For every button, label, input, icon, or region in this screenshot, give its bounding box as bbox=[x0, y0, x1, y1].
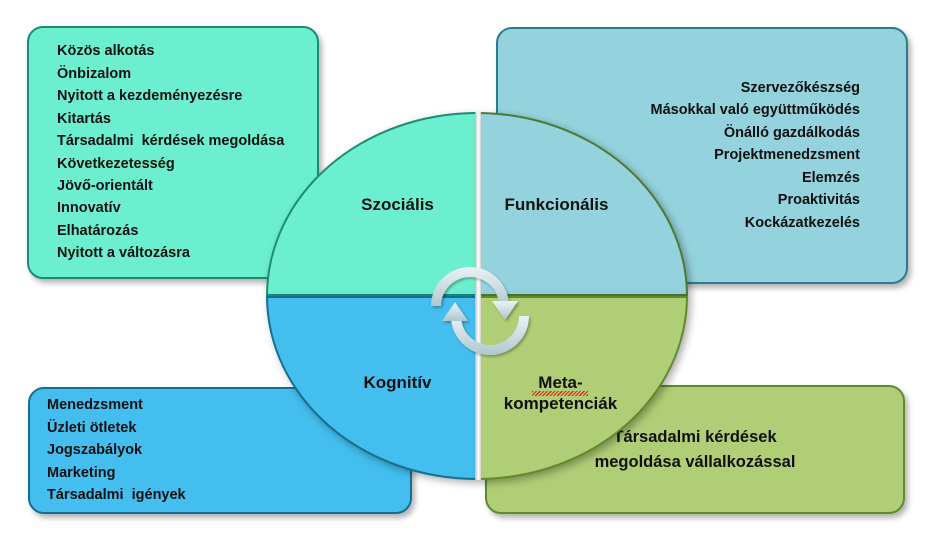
diagram-canvas: Közös alkotás Önbizalom Nyitott a kezdem… bbox=[0, 0, 940, 544]
quadrant-meta-label-line1: Meta- bbox=[538, 372, 582, 393]
quadrant-meta-label-line1-text: Meta- bbox=[538, 373, 582, 392]
competency-wheel: Szociális Funkcionális Kognitív Meta-kom… bbox=[266, 112, 688, 480]
quadrant-social-label: Szociális bbox=[361, 194, 434, 215]
panel-functional-list: Szervezőkészség Másokkal való együttműkö… bbox=[650, 77, 906, 234]
quadrant-functional-label: Funkcionális bbox=[505, 194, 609, 215]
quadrant-functional[interactable]: Funkcionális bbox=[477, 112, 688, 296]
panel-social-list: Közös alkotás Önbizalom Nyitott a kezdem… bbox=[29, 40, 284, 264]
quadrant-social[interactable]: Szociális bbox=[266, 112, 477, 296]
quadrant-meta-label: Meta-kompetenciák bbox=[504, 351, 617, 414]
quadrant-cognitive-label: Kognitív bbox=[364, 372, 432, 393]
quadrant-meta[interactable]: Meta-kompetenciák bbox=[477, 296, 688, 480]
quadrant-meta-label-line2: kompetenciák bbox=[504, 394, 617, 413]
panel-cognitive-list: Menedzsment Üzleti ötletek Jogszabályok … bbox=[30, 394, 186, 506]
quadrant-cognitive[interactable]: Kognitív bbox=[266, 296, 477, 480]
